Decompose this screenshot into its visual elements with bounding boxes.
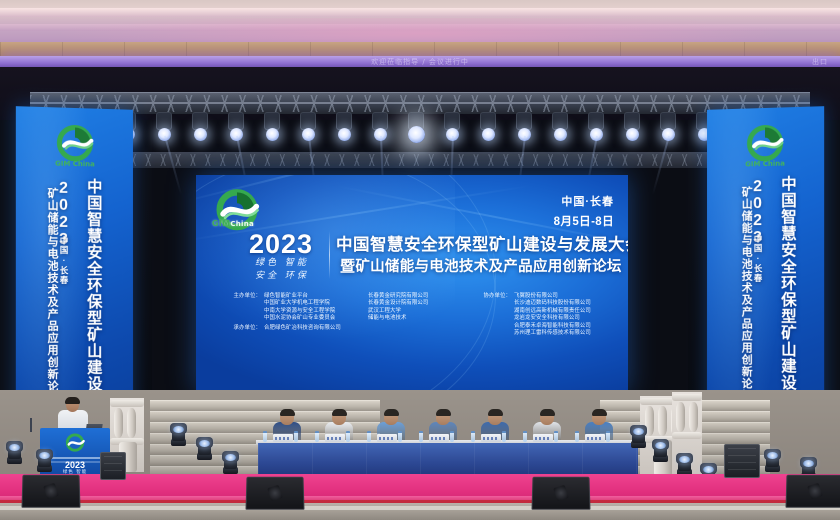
moving-head-light xyxy=(652,438,669,462)
name-placard xyxy=(533,434,553,442)
led-ticker-center: 欢迎莅临指导 / 会议进行中 xyxy=(371,58,469,66)
name-placard xyxy=(429,434,449,442)
par-light xyxy=(626,128,639,141)
conference-title: 中国智慧安全环保型矿山建设与发展大会 xyxy=(336,231,620,255)
water-bottle xyxy=(606,431,610,442)
par-light xyxy=(266,128,279,141)
name-placard xyxy=(585,434,605,442)
ceiling-light-streak xyxy=(0,8,840,17)
panelist-hair xyxy=(384,409,399,416)
title-divider xyxy=(329,231,330,279)
stage-monitor-speaker xyxy=(245,477,304,510)
moving-head-light xyxy=(222,450,239,474)
lighting-truss-lower xyxy=(120,152,720,168)
banner-subtitle: 矿山储能与电池技术及产品应用创新论坛 xyxy=(738,186,754,402)
baluster xyxy=(689,402,698,432)
equipment-road-case xyxy=(724,444,760,478)
organizer-name: 合肥绿色矿冶科技咨询有限公司 xyxy=(264,325,368,332)
water-bottle xyxy=(398,431,402,442)
ceiling xyxy=(0,0,840,44)
slogan-line-2: 安全 环保 xyxy=(240,270,324,283)
stage-monitor-speaker xyxy=(785,475,840,508)
location-date-block: 中国·长春 8月5日-8日 xyxy=(554,193,614,229)
light-lens xyxy=(679,456,690,463)
co-host-row: 协办单位：合肥泰禾卓海智能科技有限公司 xyxy=(470,323,620,330)
floor-stripe xyxy=(0,506,840,510)
co-host-row: 协办单位：苏州理工雷科传感技术有限公司 xyxy=(470,330,620,337)
host-org-name: 中国矿业大学机电工程学院 xyxy=(264,300,368,307)
equipment-road-case xyxy=(100,452,126,480)
baluster xyxy=(676,402,685,432)
water-bottle xyxy=(419,431,423,442)
light-lens xyxy=(39,452,50,459)
light-lens xyxy=(173,426,184,433)
water-bottle xyxy=(315,431,319,442)
gim-logo-label: GIMChina xyxy=(202,219,264,228)
light-lens xyxy=(655,442,666,449)
ceiling-pink-glow xyxy=(0,18,840,44)
light-lens xyxy=(703,466,714,473)
host-label: 主办单位： xyxy=(218,293,264,300)
co-host-org-name: 长沙迪迈数码科技股份有限公司 xyxy=(514,300,591,307)
speaker-hair xyxy=(65,397,80,404)
water-bottle xyxy=(450,431,454,442)
organizer-row: 承办单位： 合肥绿色矿冶科技咨询有限公司 xyxy=(218,325,368,332)
slogan-line-1: 绿色 智能 xyxy=(240,257,324,270)
light-lens xyxy=(633,428,644,435)
co-host-label: 协办单位： xyxy=(470,293,514,300)
stage-monitor-speaker xyxy=(21,475,80,508)
handrail xyxy=(110,400,144,407)
moving-head-light xyxy=(764,448,781,472)
water-bottle xyxy=(523,431,527,442)
water-bottle xyxy=(575,431,579,442)
panelist-hair xyxy=(332,409,347,416)
forum-subtitle: 暨矿山储能与电池技术及产品应用创新论坛 xyxy=(340,255,620,276)
screen-slogan: 绿色 智能 安全 环保 xyxy=(240,257,324,283)
host-org-name: 中国水泥协会矿山专业委员会 xyxy=(264,315,368,322)
co-host-row: 协办单位：长沙迪迈数码科技股份有限公司 xyxy=(470,300,620,307)
co-host-row: 协办单位：龙岩龙安安全科技有限公司 xyxy=(470,315,620,322)
name-placard xyxy=(325,434,345,442)
organizer-label: 承办单位： xyxy=(218,325,264,332)
handrail xyxy=(672,394,702,401)
banner-logo-text: GIM China xyxy=(734,159,796,168)
panelist-hair xyxy=(540,409,555,416)
panelist-hair xyxy=(436,409,451,416)
water-bottle xyxy=(263,431,267,442)
podium-microphone xyxy=(30,418,32,432)
par-light xyxy=(482,128,495,141)
subtitle-text: 矿山储能与电池技术及产品应用创新论坛 xyxy=(355,259,621,275)
screen-date: 8月5日-8日 xyxy=(554,213,614,229)
moving-head-light xyxy=(36,448,53,472)
name-placard xyxy=(377,434,397,442)
moving-head-light xyxy=(630,424,647,448)
baluster xyxy=(114,408,123,438)
par-light xyxy=(338,128,351,141)
moving-head-light xyxy=(196,436,213,460)
water-bottle xyxy=(502,431,506,442)
gim-logo-icon xyxy=(62,432,88,456)
panelist-hair xyxy=(488,409,503,416)
water-bottle xyxy=(346,431,350,442)
handrail xyxy=(672,432,702,439)
water-bottle xyxy=(367,431,371,442)
light-lens xyxy=(225,454,236,461)
lighting-truss-main xyxy=(30,92,810,114)
par-light xyxy=(194,128,207,141)
light-lens xyxy=(767,452,778,459)
co-host-rows: 协办单位：飞翼股份有限公司协办单位：长沙迪迈数码科技股份有限公司协办单位：湖南创… xyxy=(470,293,620,337)
podium-text-line xyxy=(46,457,104,459)
panelist-hair xyxy=(592,409,607,416)
baluster xyxy=(127,408,136,438)
light-lens xyxy=(199,440,210,447)
subtitle-prefix: 暨 xyxy=(340,258,355,275)
par-light xyxy=(554,128,567,141)
organizer-credits: 主办单位：绿色智能矿业平台长春黄金研究院有限公司主办单位：中国矿业大学机电工程学… xyxy=(218,293,618,323)
moving-head-light xyxy=(170,422,187,446)
water-bottle xyxy=(554,431,558,442)
screen-location: 中国·长春 xyxy=(554,193,614,209)
screen-year: 2023 xyxy=(240,229,322,260)
co-host-org-name: 苏州理工雷科传感技术有限公司 xyxy=(514,330,591,337)
name-placard xyxy=(481,434,501,442)
stone-wall-band xyxy=(0,42,840,57)
stage-monitor-speaker xyxy=(531,477,590,510)
host-org-name: 长春黄金设计院有限公司 xyxy=(368,300,464,307)
co-host-org-name: 合肥泰禾卓海智能科技有限公司 xyxy=(514,323,591,330)
conference-stage-photo: 欢迎莅临指导 / 会议进行中 出口 GIM China 2023 中国智慧安全环… xyxy=(0,0,840,520)
banner-subtitle: 矿山储能与电池技术及产品应用创新论坛 xyxy=(44,187,60,404)
moving-head-light xyxy=(676,452,693,476)
main-led-screen: GIMChina 2023 绿色 智能 安全 环保 中国智慧安全环保型矿山建设与… xyxy=(196,175,628,393)
baluster xyxy=(658,406,667,436)
light-lens xyxy=(803,460,814,467)
moving-head-light xyxy=(6,440,23,464)
light-lens xyxy=(9,444,20,451)
name-placard xyxy=(273,434,293,442)
host-org-name: 储能与电池技术 xyxy=(368,315,464,322)
co-host-org-name: 龙岩龙安安全科技有限公司 xyxy=(514,315,580,322)
panelist-hair xyxy=(280,409,295,416)
water-bottle xyxy=(471,431,475,442)
banner-logo-text: GIM China xyxy=(44,159,106,168)
par-light xyxy=(408,126,425,143)
water-bottle xyxy=(294,431,298,442)
